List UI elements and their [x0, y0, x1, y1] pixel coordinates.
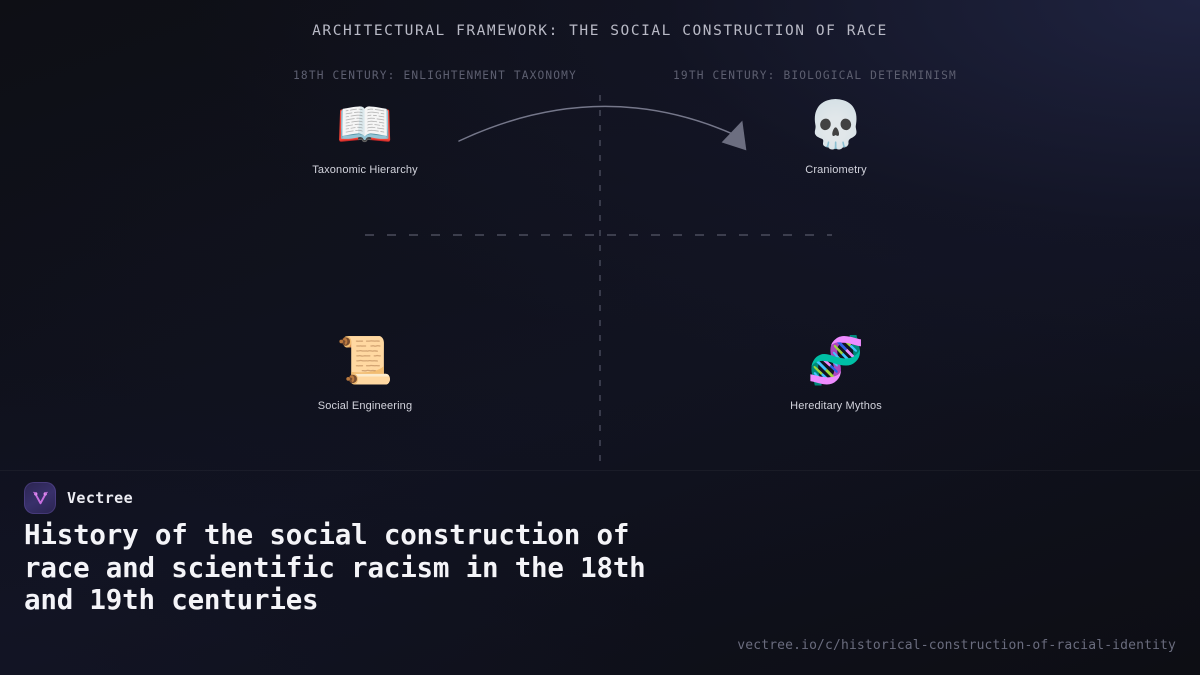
- skull-icon: 💀: [746, 98, 926, 150]
- share-url[interactable]: vectree.io/c/historical-construction-of-…: [737, 638, 1176, 653]
- column-header-19th-century: 19TH CENTURY: BIOLOGICAL DETERMINISM: [615, 69, 1015, 82]
- open-book-icon: 📖: [275, 98, 455, 150]
- node-label: Hereditary Mythos: [746, 400, 926, 412]
- vectree-logo-icon: [24, 482, 56, 514]
- page-title: History of the social construction of ra…: [24, 519, 704, 617]
- node-craniometry[interactable]: 💀 Craniometry: [746, 98, 926, 176]
- scroll-icon: 📜: [275, 334, 455, 386]
- node-hereditary-mythos[interactable]: 🧬 Hereditary Mythos: [746, 334, 926, 412]
- arc-taxonomy-to-craniometry: [459, 106, 735, 141]
- diagram-canvas: ARCHITECTURAL FRAMEWORK: THE SOCIAL CONS…: [0, 0, 1200, 470]
- brand[interactable]: Vectree: [24, 482, 133, 514]
- node-label: Craniometry: [746, 164, 926, 176]
- brand-name: Vectree: [67, 489, 133, 507]
- node-social-engineering[interactable]: 📜 Social Engineering: [275, 334, 455, 412]
- footer: Vectree History of the social constructi…: [0, 470, 1200, 675]
- node-label: Taxonomic Hierarchy: [275, 164, 455, 176]
- diagram-title: ARCHITECTURAL FRAMEWORK: THE SOCIAL CONS…: [0, 23, 1200, 39]
- vectree-share-card: ARCHITECTURAL FRAMEWORK: THE SOCIAL CONS…: [0, 0, 1200, 675]
- node-taxonomic-hierarchy[interactable]: 📖 Taxonomic Hierarchy: [275, 98, 455, 176]
- column-header-18th-century: 18TH CENTURY: ENLIGHTENMENT TAXONOMY: [235, 69, 635, 82]
- dna-helix-icon: 🧬: [746, 334, 926, 386]
- node-label: Social Engineering: [275, 400, 455, 412]
